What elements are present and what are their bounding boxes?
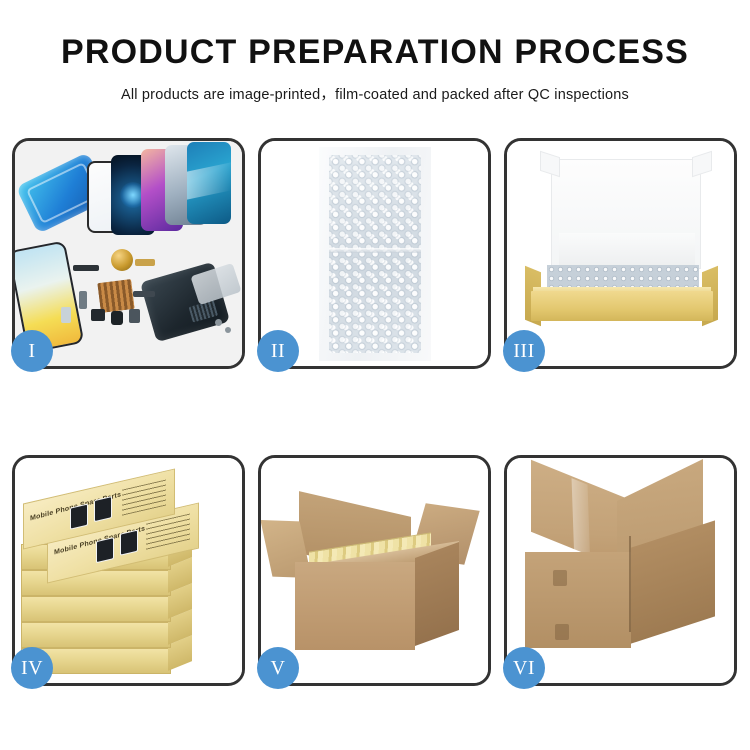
screw [215,319,222,326]
page-subtitle: All products are image-printed，film-coat… [0,83,750,104]
step-badge-2: II [257,330,299,372]
step-panel-6: VI [504,455,737,686]
carton-front [295,562,415,650]
box-label-phone-image [94,496,112,522]
sim-tray [61,307,71,323]
step-badge-5: V [257,647,299,689]
sealed-carton-image [507,458,734,683]
inner-box-image [507,141,734,366]
box-front-wall [531,291,713,321]
screw [225,327,231,333]
gold-contact-part [135,259,155,266]
carton-filling-image [261,458,488,683]
box-label-phone-image [70,504,88,530]
stacked-boxes-image: Mobile Phone Spare Parts Mobile Phone Sp… [15,458,242,683]
small-component [79,291,87,309]
step-panel-2: II [258,138,491,369]
step-panel-5: V [258,455,491,686]
step-badge-3: III [503,330,545,372]
bubble-wrap-image [261,141,488,366]
connector-chip-grid [97,279,134,313]
stacked-box [21,596,171,622]
product-preparation-infographic: PRODUCT PREPARATION PROCESS All products… [0,0,750,750]
bubble-wrap-body [329,155,421,353]
process-steps-grid: I II [12,138,738,686]
foam-padding [559,233,695,269]
step-badge-1: I [11,330,53,372]
step-badge-4: IV [11,647,53,689]
stacked-box [21,570,171,596]
phone-display-teal [187,142,231,224]
step-panel-4: Mobile Phone Spare Parts Mobile Phone Sp… [12,455,245,686]
battery-connector [129,309,140,323]
phone-parts-image [15,141,242,366]
box-label-phone-image [96,537,114,563]
box-stack: Mobile Phone Spare Parts Mobile Phone Sp… [21,472,237,674]
flex-cable-part [73,265,99,271]
carton-side [415,542,459,646]
vibration-motor [111,249,133,271]
bubble-texture-offset [329,155,421,353]
carton-edge-seam [629,536,631,632]
step-badge-6: VI [503,647,545,689]
speaker-module [91,309,105,321]
camera-module [111,311,123,325]
header: PRODUCT PREPARATION PROCESS All products… [0,0,750,104]
flex-cable-part [133,291,155,297]
wrap-seam [329,248,421,253]
page-title: PRODUCT PREPARATION PROCESS [0,34,750,71]
carton-front [525,552,631,648]
carton-hand-hole [555,624,569,640]
stacked-box [21,622,171,648]
step-panel-1: I [12,138,245,369]
box-label-phone-image [120,530,138,556]
box-label-text-lines [122,480,166,516]
step-panel-3: III [504,138,737,369]
carton-hand-hole [553,570,567,586]
